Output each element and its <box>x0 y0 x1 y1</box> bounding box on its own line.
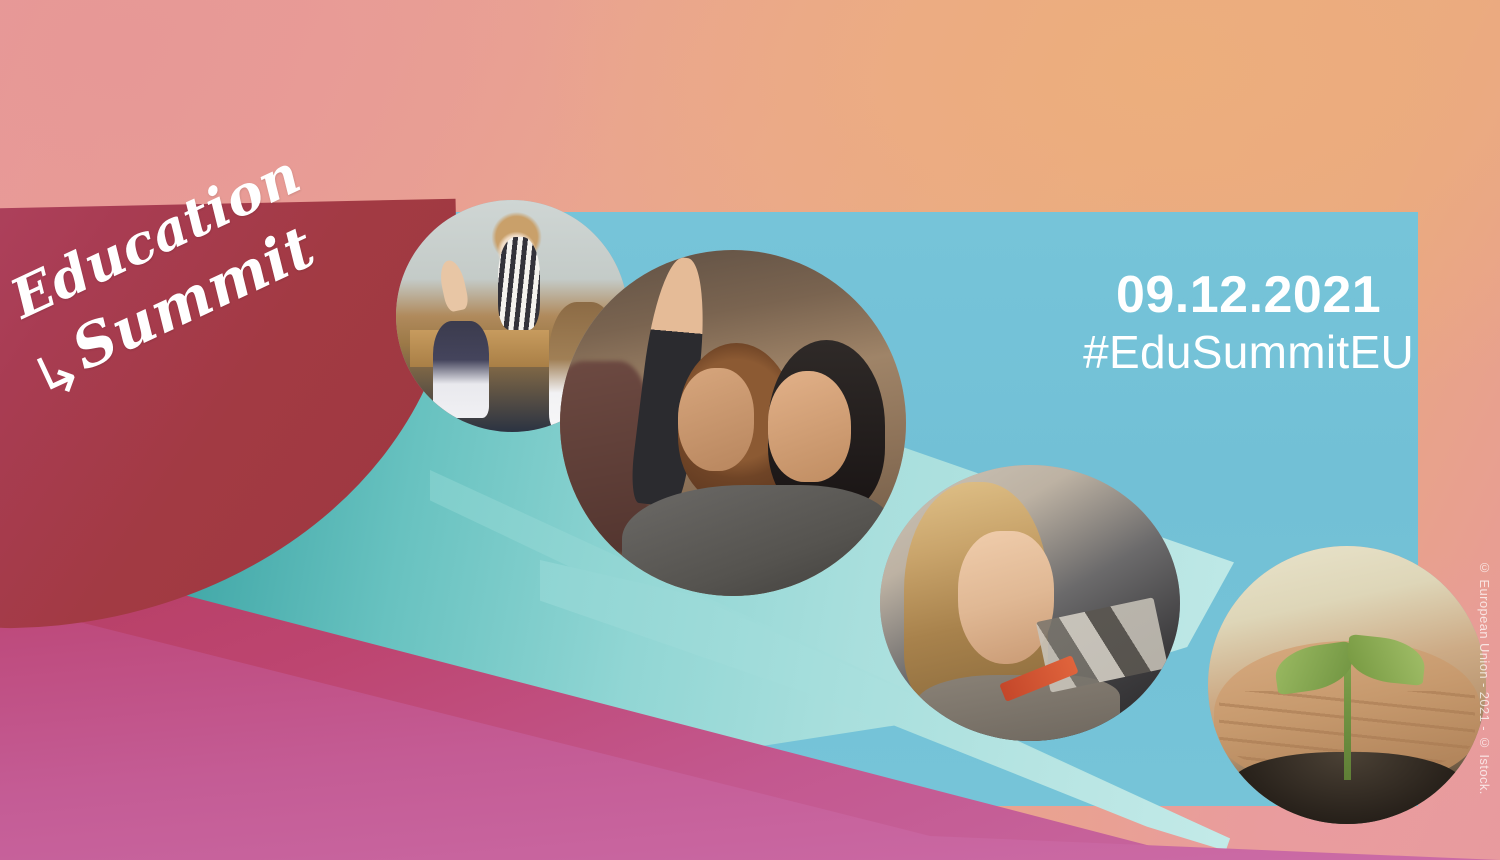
adults-second-face <box>768 371 851 482</box>
adults-first-face <box>678 368 754 472</box>
event-hashtag: #EduSummitEU <box>1083 327 1414 379</box>
education-summit-banner: Education ↳ Summit 09.12.2021 #EduSummit… <box>0 0 1500 860</box>
seedling-stem <box>1344 657 1351 779</box>
classroom-pupil-figure <box>433 321 489 418</box>
seedling-photo <box>1208 546 1486 824</box>
classroom-teacher-figure <box>498 237 540 330</box>
photo-circle-seedling <box>1208 546 1486 824</box>
adult-learners-photo <box>560 250 906 596</box>
photo-circle-adult-learners <box>560 250 906 596</box>
photo-circle-robotics-girl <box>880 465 1180 741</box>
robotics-photo <box>880 465 1180 741</box>
copyright-credit: © European Union - 2021 - © Istock. <box>1477 560 1492 795</box>
adults-shoulders <box>622 485 892 596</box>
classroom-raised-hand <box>437 258 470 313</box>
event-info-block: 09.12.2021 #EduSummitEU <box>1083 268 1414 379</box>
event-date: 09.12.2021 <box>1083 268 1414 323</box>
